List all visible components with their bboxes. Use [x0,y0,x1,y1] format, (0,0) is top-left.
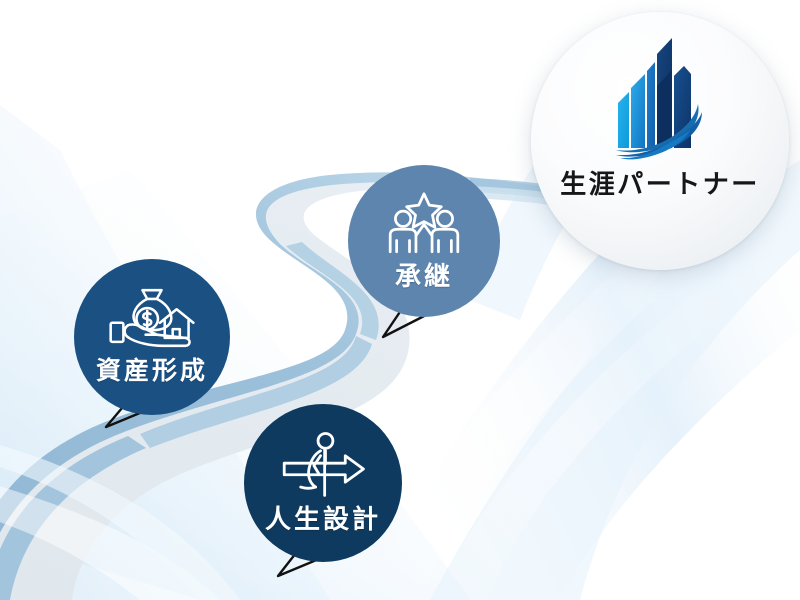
step-label-asset-formation: 資産形成 [96,351,208,387]
hand-moneybag-house-icon [106,287,198,349]
step-bubble-life-planning[interactable]: 人生設計 [244,404,402,562]
step-bubble-succession[interactable]: 承継 [348,165,500,317]
building-skyline-wave-logo [598,30,722,162]
running-person-arrow-icon [276,431,370,497]
step-label-succession: 承継 [395,256,453,293]
brand-circle[interactable]: 生涯パートナー [531,12,789,270]
infographic-canvas: 承継 資産形成 [0,0,800,600]
step-bubble-asset-formation[interactable]: 資産形成 [74,259,230,415]
brand-title: 生涯パートナー [560,164,760,201]
step-label-life-planning: 人生設計 [265,499,381,536]
two-people-star-icon [385,189,463,255]
